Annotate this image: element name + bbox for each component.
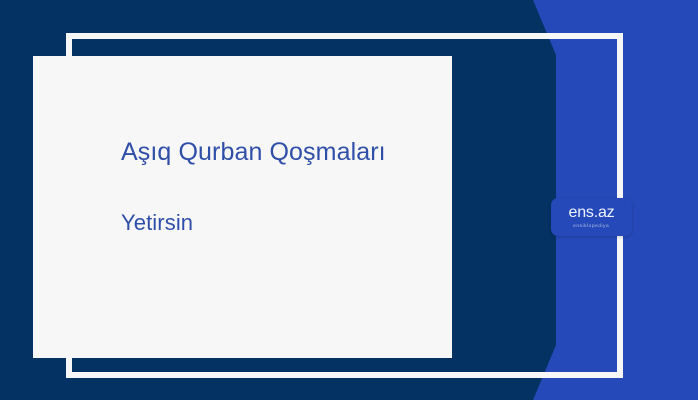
- slide-canvas: Aşıq Qurban Qoşmaları Yetirsin ens.az en…: [0, 0, 698, 400]
- ens-az-logo-badge[interactable]: ens.az ensiklopediya: [551, 198, 632, 236]
- content-card: Aşıq Qurban Qoşmaları Yetirsin: [33, 56, 452, 358]
- logo-tagline: ensiklopediya: [573, 224, 609, 229]
- page-title: Aşıq Qurban Qoşmaları: [121, 136, 421, 169]
- title-block: Aşıq Qurban Qoşmaları Yetirsin: [121, 136, 421, 237]
- page-subtitle: Yetirsin: [121, 169, 421, 238]
- logo-wordmark: ens.az: [569, 205, 615, 221]
